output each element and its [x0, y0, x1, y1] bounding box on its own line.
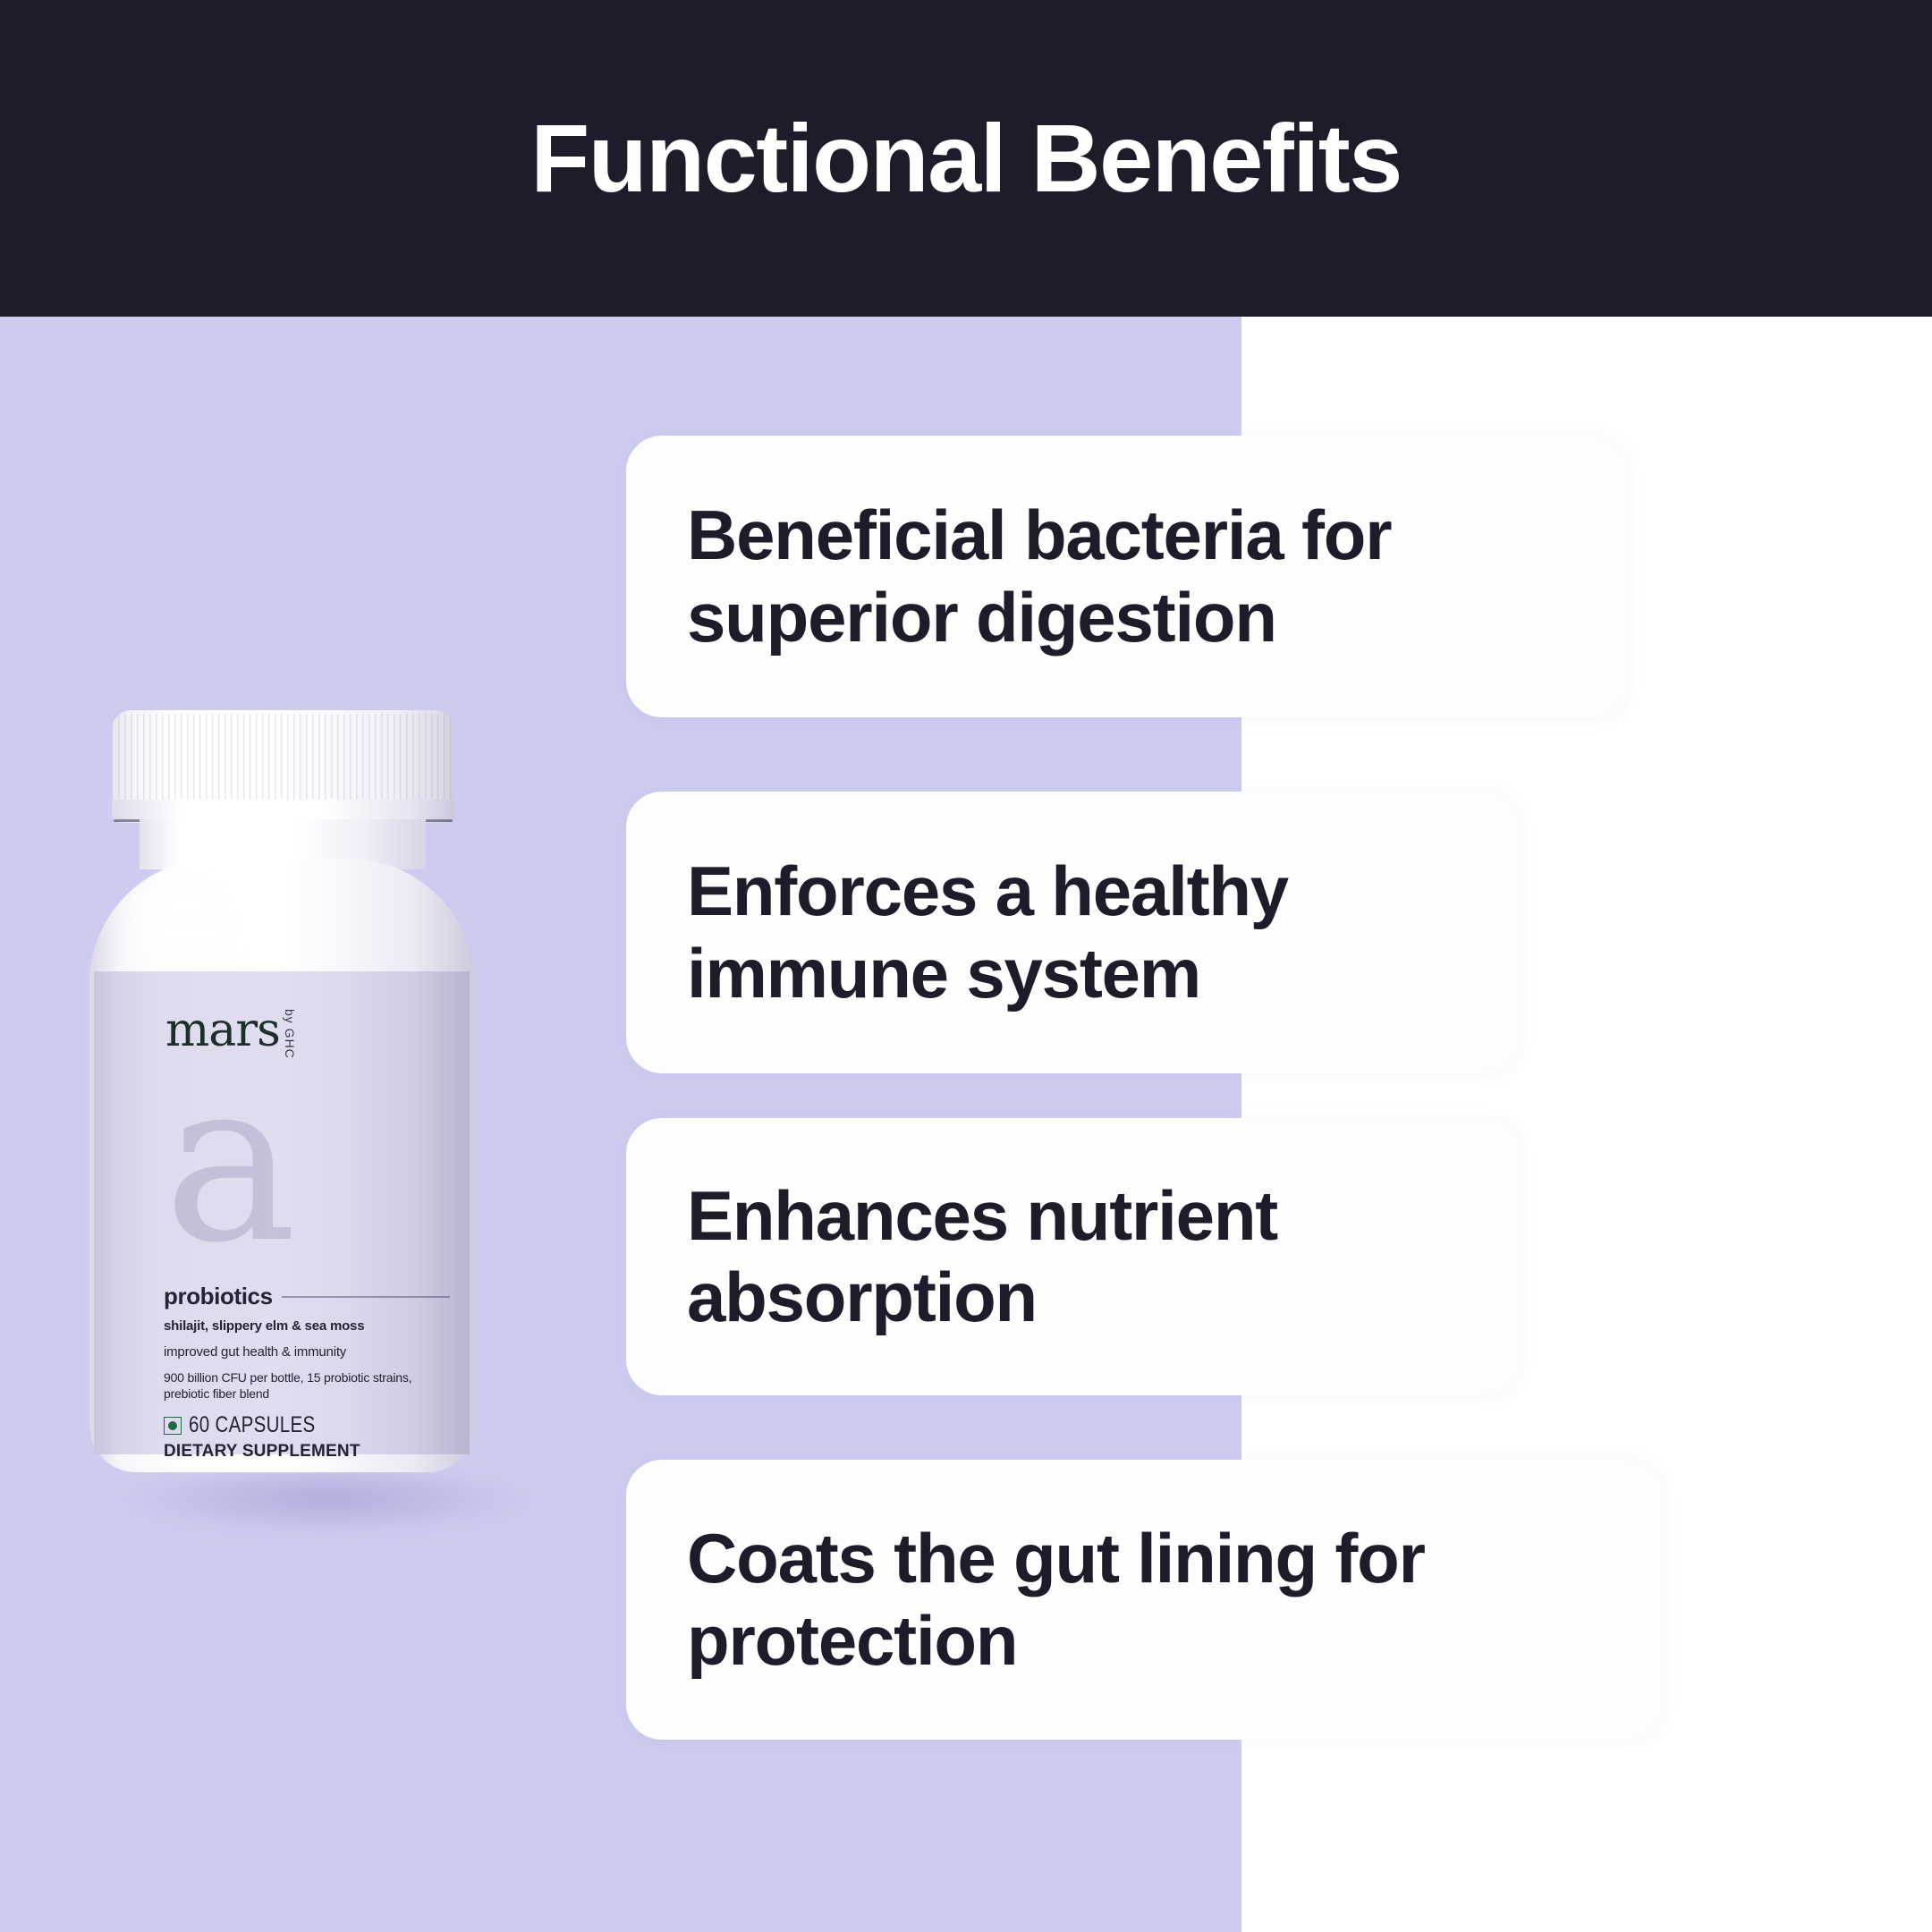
benefit-card[interactable]: Coats the gut lining for protection	[626, 1460, 1664, 1740]
benefit-card[interactable]: Enforces a healthy immune system	[626, 792, 1521, 1073]
page-title: Functional Benefits	[530, 110, 1402, 207]
benefit-card-text: Beneficial bacteria for superior digesti…	[687, 495, 1574, 658]
benefits-card-list: Beneficial bacteria for superior digesti…	[0, 317, 1932, 1932]
benefit-card[interactable]: Enhances nutrient absorption	[626, 1118, 1521, 1395]
benefit-card-text: Enforces a healthy immune system	[687, 851, 1467, 1014]
benefit-card-text: Coats the gut lining for protection	[687, 1518, 1610, 1682]
page-header: Functional Benefits	[0, 0, 1932, 317]
benefit-card[interactable]: Beneficial bacteria for superior digesti…	[626, 436, 1628, 717]
benefit-card-text: Enhances nutrient absorption	[687, 1175, 1467, 1339]
